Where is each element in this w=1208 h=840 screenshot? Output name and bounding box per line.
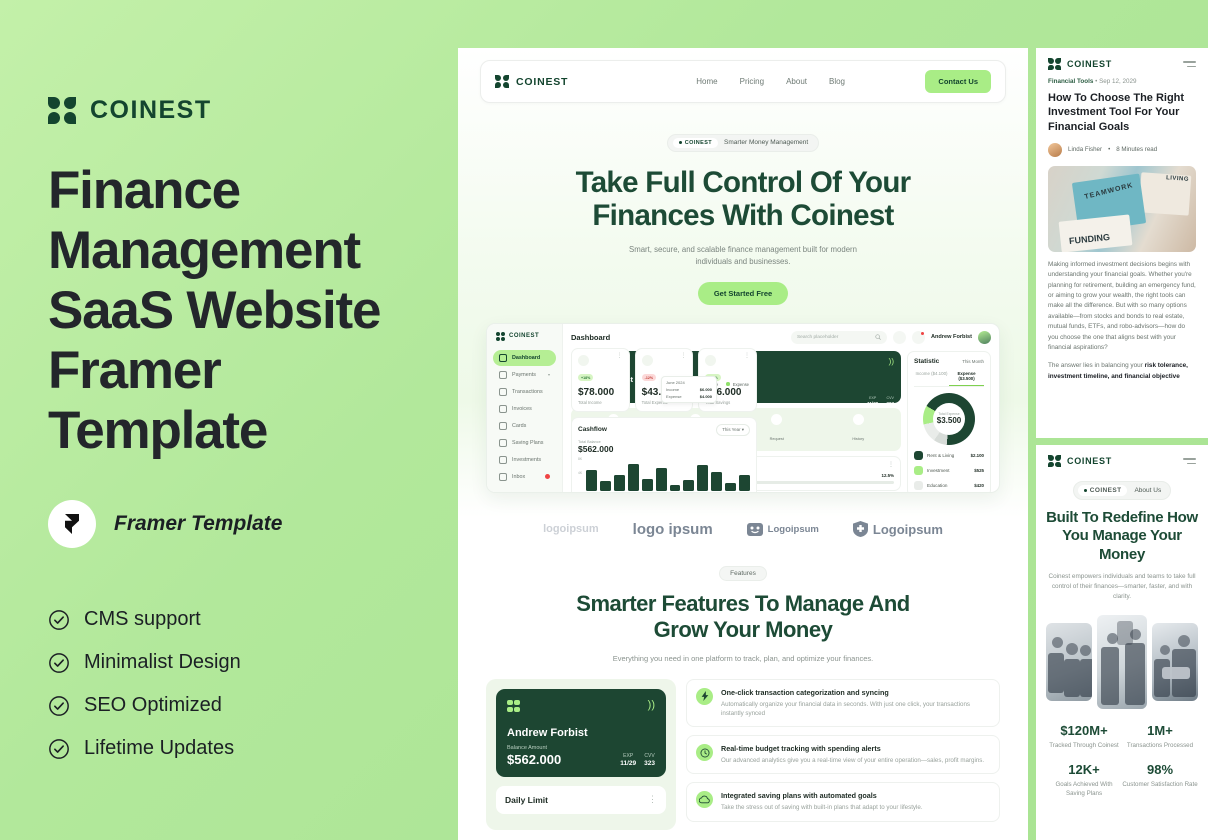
cashflow-range-value: This Year: [722, 427, 740, 432]
legend-expense: Expense: [726, 382, 749, 387]
nav-link-pricing[interactable]: Pricing: [740, 77, 764, 86]
tooltip-expense-label: Expense: [666, 394, 682, 399]
sidebar-item-transactions[interactable]: Transactions: [493, 384, 556, 400]
promo-title: Finance Management SaaS Website Framer T…: [48, 161, 410, 460]
team-photo-2: [1097, 615, 1148, 709]
dashboard-main: Dashboard Search placeholder Andrew Forb…: [563, 324, 999, 492]
feature-item: One-click transaction categorization and…: [686, 679, 1000, 728]
about-stats: $120M+Tracked Through Coinest 1M+Transac…: [1046, 723, 1198, 811]
site-navbar: COINEST Home Pricing About Blog Contact …: [480, 60, 1006, 103]
cashflow-range-select[interactable]: This Year ▾: [716, 424, 750, 436]
about-heading: Built To Redefine How You Manage Your Mo…: [1046, 509, 1198, 564]
legend-swatch: [914, 481, 923, 490]
expense-icon: [642, 355, 653, 366]
hero-sub-line1: Smart, secure, and scalable finance mana…: [629, 245, 857, 254]
hero-badge-text: Smarter Money Management: [724, 139, 808, 146]
coinest-logo-icon: [48, 97, 78, 125]
promo-panel: COINEST Finance Management SaaS Website …: [0, 0, 458, 840]
logo-2: logo ipsum: [633, 521, 713, 538]
tab-expense[interactable]: Expense ($3.500): [949, 371, 984, 386]
dashboard-topbar: Dashboard Search placeholder Andrew Forb…: [571, 331, 991, 344]
cvv-label: CVV: [644, 753, 655, 759]
y-tick: 4K: [578, 471, 582, 475]
hero-badge-tag: COINEST: [673, 138, 718, 148]
separator-dot: •: [1108, 146, 1110, 153]
navbar-brand[interactable]: COINEST: [495, 75, 568, 88]
blog-hero-image: LIVING TEAMWORK FUNDING: [1048, 166, 1196, 252]
more-icon[interactable]: ⋮: [617, 355, 623, 366]
blog-author-row: Linda Fisher • 8 Minutes read: [1048, 143, 1196, 157]
sidebar-item-label: Cards: [512, 423, 526, 429]
statistic-range-select[interactable]: This Month: [962, 359, 984, 364]
mail-icon: [499, 473, 507, 481]
bar: [656, 468, 667, 490]
document-icon: [499, 405, 507, 413]
more-icon[interactable]: ⋮: [744, 355, 750, 366]
get-started-free-button[interactable]: Get Started Free: [698, 282, 788, 305]
bar: [600, 481, 611, 491]
features-subtitle: Everything you need in one platform to t…: [458, 654, 1028, 663]
blog-preview-card: COINEST Financial Tools • Sep 12, 2029 H…: [1036, 48, 1208, 438]
right-previews: COINEST Financial Tools • Sep 12, 2029 H…: [1028, 0, 1208, 840]
blog-body: Financial Tools • Sep 12, 2029 How To Ch…: [1036, 78, 1208, 382]
feature-desc: Take the stress out of saving with built…: [721, 803, 923, 812]
chevron-down-icon: ▾: [548, 372, 550, 377]
hero-badge-brand: COINEST: [685, 140, 712, 146]
sidebar-item-payments[interactable]: Payments▾: [493, 367, 556, 383]
poster-root: COINEST Finance Management SaaS Website …: [0, 0, 1208, 840]
dashboard-brand: COINEST: [493, 332, 556, 341]
features-section: Features Smarter Features To Manage And …: [458, 548, 1028, 663]
sidebar-item-investments[interactable]: Investments: [493, 452, 556, 468]
framer-badge: Framer Template: [48, 500, 410, 548]
category-amount: $525: [974, 468, 984, 473]
sidebar-item-label: Dashboard: [512, 355, 540, 361]
navbar-brand-name: COINEST: [1067, 456, 1112, 466]
features-card-panel: )) Andrew Forbist Balance Amount $562.00…: [486, 679, 676, 830]
tooltip-expense: $4.000: [700, 394, 712, 399]
more-icon[interactable]: ⋮: [680, 355, 686, 366]
sidebar-item-saving-plans[interactable]: Saving Plans: [493, 435, 556, 451]
piggy-icon: [499, 439, 507, 447]
legend-swatch: [914, 466, 923, 475]
dashboard-right-column: Statistic This Month Income ($4.100) Exp…: [907, 351, 991, 492]
about-subtitle: Coinest empowers individuals and teams t…: [1046, 572, 1198, 603]
tooltip-income-label: Income: [666, 387, 679, 392]
about-badge: COINEST About Us: [1073, 481, 1171, 500]
balance-amount: $562.000: [507, 752, 561, 767]
stat-item: 12K+Goals Achieved With Saving Plans: [1046, 762, 1122, 799]
bar: [642, 479, 653, 491]
bar: [628, 464, 639, 491]
check-circle-icon: [48, 652, 70, 674]
coinest-logo-icon: [507, 700, 520, 713]
stat-item: $120M+Tracked Through Coinest: [1046, 723, 1122, 750]
balance-label: Balance Amount: [507, 745, 561, 751]
navbar-brand-name: COINEST: [516, 76, 568, 88]
check-circle-icon: [48, 609, 70, 631]
hero-heading-line2: Finances With Coinest: [592, 199, 893, 232]
about-badge-tag: COINEST: [1078, 485, 1128, 496]
face-icon: [747, 523, 763, 536]
category-name: Investment: [927, 468, 949, 473]
chart-icon: [499, 456, 507, 464]
exp-value: 11/29: [620, 760, 636, 767]
logo-4-text: Logoipsum: [873, 522, 943, 537]
contact-us-button[interactable]: Contact Us: [925, 70, 991, 93]
statistic-panel: Statistic This Month Income ($4.100) Exp…: [907, 351, 991, 492]
stat-card-income: ⋮ +18% $78.000 Total Income: [571, 348, 630, 412]
action-history[interactable]: History: [818, 414, 900, 445]
stat-label: Goals Achieved With Saving Plans: [1046, 780, 1122, 799]
sidebar-item-label: Saving Plans: [512, 440, 543, 446]
cvv-value: 323: [644, 760, 655, 767]
framer-icon: [48, 500, 96, 548]
wallet-icon: [499, 422, 507, 430]
hamburger-menu-icon[interactable]: [1183, 61, 1196, 67]
hero-heading: Take Full Control Of Your Finances With …: [458, 166, 1028, 232]
feature-daily-limit-card: Daily Limit ⋮: [496, 786, 666, 814]
blog-title: How To Choose The Right Investment Tool …: [1048, 91, 1196, 134]
list-item: SEO Optimized: [48, 694, 241, 717]
card-holder-name: Andrew Forbist: [507, 727, 655, 739]
stat-value: 1M+: [1122, 723, 1198, 738]
stat-cards-row: ⋮ +18% $78.000 Total Income ⋮ -12% $43.0…: [571, 348, 757, 492]
bar: [725, 483, 736, 491]
team-photo-3: [1152, 623, 1198, 701]
bar: [614, 475, 625, 491]
features-heading-line2: Grow Your Money: [654, 617, 833, 642]
sidebar-item-dashboard[interactable]: Dashboard: [493, 350, 556, 366]
expense-donut-chart: Total Expense $3.500: [923, 393, 975, 445]
feature-label: CMS support: [84, 608, 201, 631]
hero-badge: COINEST Smarter Money Management: [667, 134, 819, 152]
sidebar-item-label: Investments: [512, 457, 541, 463]
chart-tooltip: June 2024 Income$6.000 Expense$4.000: [661, 376, 717, 403]
stat-label: Customer Satisfaction Rate: [1122, 780, 1198, 789]
feature-item: Real-time budget tracking with spending …: [686, 735, 1000, 774]
check-circle-icon: [48, 695, 70, 717]
blog-date: Sep 12, 2029: [1099, 78, 1136, 85]
list-item: Education $420: [914, 481, 984, 490]
sidebar-item-cards[interactable]: Cards: [493, 418, 556, 434]
exp-label: EXP: [620, 753, 636, 759]
notification-badge: [545, 474, 550, 479]
cvv-label: CVV: [886, 396, 894, 400]
logo-1: logoipsum: [543, 523, 599, 535]
daily-limit-title: Daily Limit: [505, 795, 548, 805]
bar: [711, 472, 722, 491]
request-icon: [771, 414, 782, 425]
bar: [739, 475, 750, 491]
feature-desc: Automatically organize your financial da…: [721, 700, 990, 719]
sidebar-item-invoices[interactable]: Invoices: [493, 401, 556, 417]
about-navbar: COINEST: [1036, 445, 1208, 475]
dashboard-brand-name: COINEST: [509, 333, 539, 339]
blog-navbar: COINEST: [1036, 48, 1208, 78]
card-icon: [499, 371, 507, 379]
nav-link-home[interactable]: Home: [696, 77, 717, 86]
feature-desc: Our advanced analytics give you a real-t…: [721, 756, 984, 765]
search-placeholder: Search placeholder: [797, 335, 838, 340]
savings-icon: [705, 355, 716, 366]
feature-title: Real-time budget tracking with spending …: [721, 744, 984, 753]
cvv-value: 323: [886, 401, 894, 406]
logo-3-text: Logoipsum: [768, 524, 819, 535]
site-page: COINEST Home Pricing About Blog Contact …: [458, 48, 1028, 840]
statistic-title: Statistic: [914, 358, 939, 365]
category-name: Rent & Living: [927, 453, 954, 458]
website-preview: COINEST Home Pricing About Blog Contact …: [458, 0, 1028, 840]
logo-2-text: logo ipsum: [633, 521, 713, 538]
stat-label: Total Income: [578, 400, 623, 405]
coinest-logo-icon: [1048, 455, 1061, 467]
coinest-logo-icon: [495, 75, 509, 88]
more-icon[interactable]: ⋮: [648, 797, 657, 802]
list-item: Investment $525: [914, 466, 984, 475]
blog-paragraph-2: The answer lies in balancing your risk t…: [1048, 361, 1196, 382]
blog-paragraph-2-prefix: The answer lies in balancing your: [1048, 362, 1145, 369]
shield-icon: [853, 521, 868, 537]
team-photo-1: [1046, 623, 1092, 701]
features-heading: Smarter Features To Manage And Grow Your…: [458, 591, 1028, 644]
stat-value: 98%: [1122, 762, 1198, 777]
message-icon[interactable]: [893, 331, 906, 344]
action-label: Request: [770, 437, 784, 441]
features-badge: Features: [719, 566, 767, 581]
logo-3: Logoipsum: [747, 523, 819, 536]
logo-4: Logoipsum: [853, 521, 943, 537]
nav-link-about[interactable]: About: [786, 77, 807, 86]
blog-category: Financial Tools: [1048, 78, 1093, 85]
hero-section: COINEST Smarter Money Management Take Fu…: [458, 103, 1028, 305]
tooltip-month: June 2024: [666, 380, 712, 385]
stat-label: Transactions Processed: [1122, 741, 1198, 750]
bar: [683, 480, 694, 491]
legend-swatch: [914, 451, 923, 460]
tooltip-income: $6.000: [700, 387, 712, 392]
framer-glyph-icon: [65, 514, 79, 534]
about-badge-brand: COINEST: [1090, 487, 1122, 494]
list-item: Rent & Living $2.100: [914, 451, 984, 460]
cashflow-balance: $562.000: [578, 444, 750, 454]
promo-brand-name: COINEST: [90, 96, 212, 125]
clock-icon: [853, 414, 864, 425]
about-preview-card: COINEST COINEST About Us Built To Redefi…: [1036, 445, 1208, 840]
feature-title: One-click transaction categorization and…: [721, 688, 990, 697]
sidebar-item-inbox[interactable]: Inbox: [493, 469, 556, 485]
logo-strip: logoipsum logo ipsum Logoipsum Logoipsum: [458, 493, 1028, 548]
contactless-icon: )): [889, 358, 894, 366]
user-name: Andrew Forbist: [931, 334, 972, 340]
sidebar-item-label: Transactions: [512, 389, 543, 395]
exp-value: 11/29: [867, 401, 878, 406]
navbar-brand[interactable]: COINEST: [1048, 455, 1112, 467]
cloud-icon: [696, 791, 713, 808]
contactless-icon: )): [648, 700, 655, 711]
more-icon[interactable]: ⋮: [888, 464, 894, 468]
income-icon: [578, 355, 589, 366]
bell-icon[interactable]: [912, 331, 925, 344]
category-amount: $2.100: [971, 453, 984, 458]
features-body: )) Andrew Forbist Balance Amount $562.00…: [458, 663, 1028, 830]
stat-value: $120M+: [1046, 723, 1122, 738]
about-badge-text: About Us: [1134, 487, 1161, 494]
list-item: Minimalist Design: [48, 651, 241, 674]
transfer-icon: [499, 388, 507, 396]
status-badge: +18%: [578, 374, 593, 381]
author-name: Linda Fisher: [1068, 146, 1102, 153]
feature-list: One-click transaction categorization and…: [686, 679, 1000, 830]
grid-icon: [499, 354, 507, 362]
category-amount: $420: [974, 483, 984, 488]
daily-limit-percent: 12.5%: [882, 473, 894, 478]
list-item: Lifetime Updates: [48, 737, 241, 760]
framer-label: Framer Template: [114, 512, 282, 536]
category-name: Education: [927, 483, 947, 488]
navbar-links: Home Pricing About Blog: [696, 77, 845, 86]
navbar-brand-name: COINEST: [1067, 59, 1112, 69]
read-time: 8 Minutes read: [1116, 146, 1157, 153]
check-circle-icon: [48, 738, 70, 760]
sidebar-item-label: Payments: [512, 372, 536, 378]
sidebar-item-label: Inbox: [512, 474, 525, 480]
y-tick: 8K: [578, 457, 582, 461]
feature-title: Integrated saving plans with automated g…: [721, 791, 923, 800]
dashboard-mockup: COINEST Dashboard Payments▾ Transactions…: [486, 323, 1000, 493]
page-title: Dashboard: [571, 333, 610, 342]
coinest-logo-icon: [496, 332, 505, 341]
feature-label: Lifetime Updates: [84, 737, 234, 760]
coinest-logo-icon: [1048, 58, 1061, 70]
promo-feature-list: CMS support Minimalist Design SEO Optimi…: [48, 608, 241, 760]
nav-link-blog[interactable]: Blog: [829, 77, 845, 86]
stat-label: Tracked Through Coinest: [1046, 741, 1122, 750]
feature-label: Minimalist Design: [84, 651, 241, 674]
bar: [586, 470, 597, 491]
dashboard-sidebar: COINEST Dashboard Payments▾ Transactions…: [487, 324, 563, 492]
feature-item: Integrated saving plans with automated g…: [686, 782, 1000, 821]
about-photo-row: [1046, 615, 1198, 709]
hero-heading-line1: Take Full Control Of Your: [576, 166, 911, 199]
tab-income[interactable]: Income ($4.100): [914, 371, 949, 386]
stat-value: $78.000: [578, 387, 623, 398]
status-badge: -12%: [642, 374, 656, 381]
promo-logo: COINEST: [48, 96, 410, 125]
stat-item: 1M+Transactions Processed: [1122, 723, 1198, 750]
bar: [697, 465, 708, 491]
bolt-icon: [696, 688, 713, 705]
donut-value: $3.500: [937, 416, 961, 425]
stat-value: 12K+: [1046, 762, 1122, 777]
list-item: CMS support: [48, 608, 241, 631]
sidebar-item-label: Invoices: [512, 406, 532, 412]
action-label: History: [852, 437, 864, 441]
hero-subtitle: Smart, secure, and scalable finance mana…: [458, 244, 1028, 268]
cashflow-bars: 8K 4K: [578, 457, 750, 491]
hamburger-menu-icon[interactable]: [1183, 458, 1196, 464]
search-input[interactable]: Search placeholder: [791, 331, 887, 344]
exp-label: EXP: [867, 396, 878, 400]
y-axis: 8K 4K: [578, 457, 586, 491]
clock-icon: [696, 744, 713, 761]
cashflow-title: Cashflow: [578, 426, 607, 433]
blog-paragraph-1: Making informed investment decisions beg…: [1048, 260, 1196, 353]
avatar[interactable]: [978, 331, 991, 344]
hero-sub-line2: individuals and businesses.: [696, 257, 791, 266]
bar: [670, 485, 681, 490]
cashflow-chart-card: Cashflow This Year ▾ Total Balance $562.…: [571, 417, 757, 492]
about-body: COINEST About Us Built To Redefine How Y…: [1036, 475, 1208, 811]
features-heading-line1: Smarter Features To Manage And: [576, 591, 909, 616]
feature-label: SEO Optimized: [84, 694, 222, 717]
blog-meta: Financial Tools • Sep 12, 2029: [1048, 78, 1196, 85]
navbar-brand[interactable]: COINEST: [1048, 58, 1112, 70]
search-icon: [875, 334, 881, 340]
stat-item: 98%Customer Satisfaction Rate: [1122, 762, 1198, 799]
feature-balance-card: )) Andrew Forbist Balance Amount $562.00…: [496, 689, 666, 777]
avatar: [1048, 143, 1062, 157]
